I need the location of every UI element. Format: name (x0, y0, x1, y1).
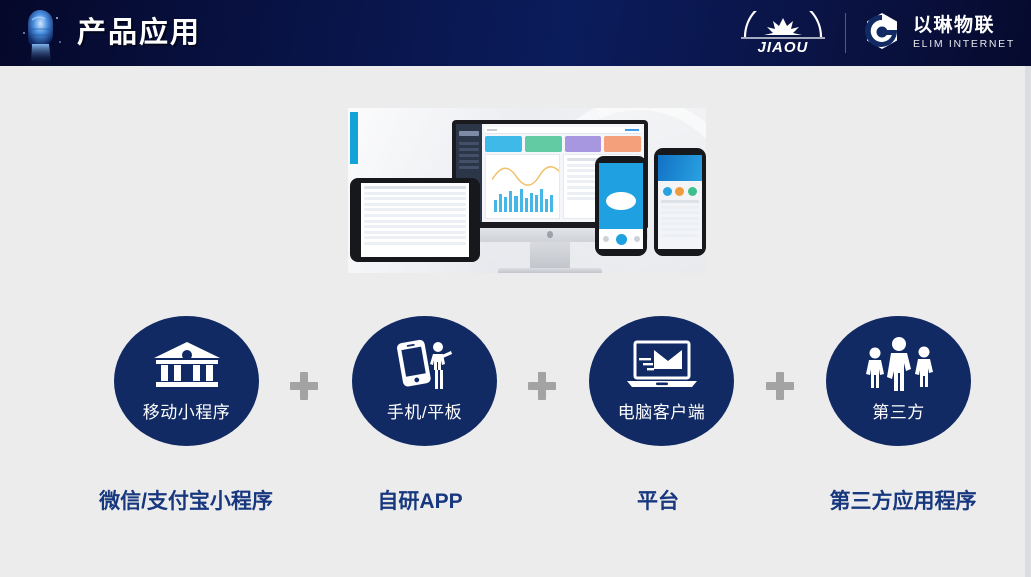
elim-name-en: ELIM INTERNET (913, 39, 1015, 50)
multi-device-product-photo (348, 108, 706, 273)
tablet-landscape (350, 178, 480, 262)
bubble-label: 第三方 (872, 398, 925, 423)
caption-mini-program: 微信/支付宝小程序 (99, 485, 273, 515)
elim-logo: 以琳物联 ELIM INTERNET (860, 11, 1015, 55)
phone-person-icon (388, 339, 462, 391)
apple-logo-icon (547, 231, 553, 238)
plus-separator-3 (766, 372, 794, 400)
phone-blue-screen (595, 156, 647, 256)
bubble-label: 手机/平板 (387, 398, 462, 423)
bubble-third-party[interactable]: 第三方 (826, 316, 971, 446)
accent-bar (350, 112, 358, 164)
fist-icon (8, 0, 72, 66)
bubble-phone-tablet[interactable]: 手机/平板 (352, 316, 497, 446)
phone-list-screen (654, 148, 706, 256)
elim-g-hexagon-icon (860, 11, 904, 55)
caption-platform: 平台 (637, 485, 679, 515)
caption-third-party-app: 第三方应用程序 (830, 485, 977, 515)
slide-header: 产品应用 JIAOU 以琳物联 ELIM INT (0, 0, 1031, 66)
dashboard-chart (485, 154, 560, 219)
page-title: 产品应用 (77, 12, 201, 54)
bank-building-icon (150, 339, 224, 391)
jiaou-logo: JIAOU (735, 11, 831, 56)
bubble-pc-client[interactable]: 电脑客户端 (589, 316, 734, 446)
caption-row: 微信/支付宝小程序 自研APP 平台 第三方应用程序 (0, 485, 1031, 527)
plus-separator-1 (290, 372, 318, 400)
bubble-label: 电脑客户端 (618, 398, 706, 423)
people-group-icon (858, 339, 940, 391)
bubble-label: 移动小程序 (143, 398, 231, 423)
slide-product-application: 产品应用 JIAOU 以琳物联 ELIM INT (0, 0, 1031, 577)
caption-self-developed-app: 自研APP (377, 485, 462, 515)
jiaou-wordmark: JIAOU (758, 39, 809, 56)
bubble-mini-program[interactable]: 移动小程序 (114, 316, 259, 446)
channel-bubble-row: 移动小程序 手机/平板 (0, 316, 1031, 446)
logo-divider (845, 13, 846, 53)
elim-name-cn: 以琳物联 (913, 16, 1015, 35)
laptop-mail-icon (623, 339, 701, 391)
sunburst-arch-icon (737, 11, 829, 41)
plus-separator-2 (528, 372, 556, 400)
logo-group: JIAOU 以琳物联 ELIM INTERNET (735, 6, 1015, 60)
